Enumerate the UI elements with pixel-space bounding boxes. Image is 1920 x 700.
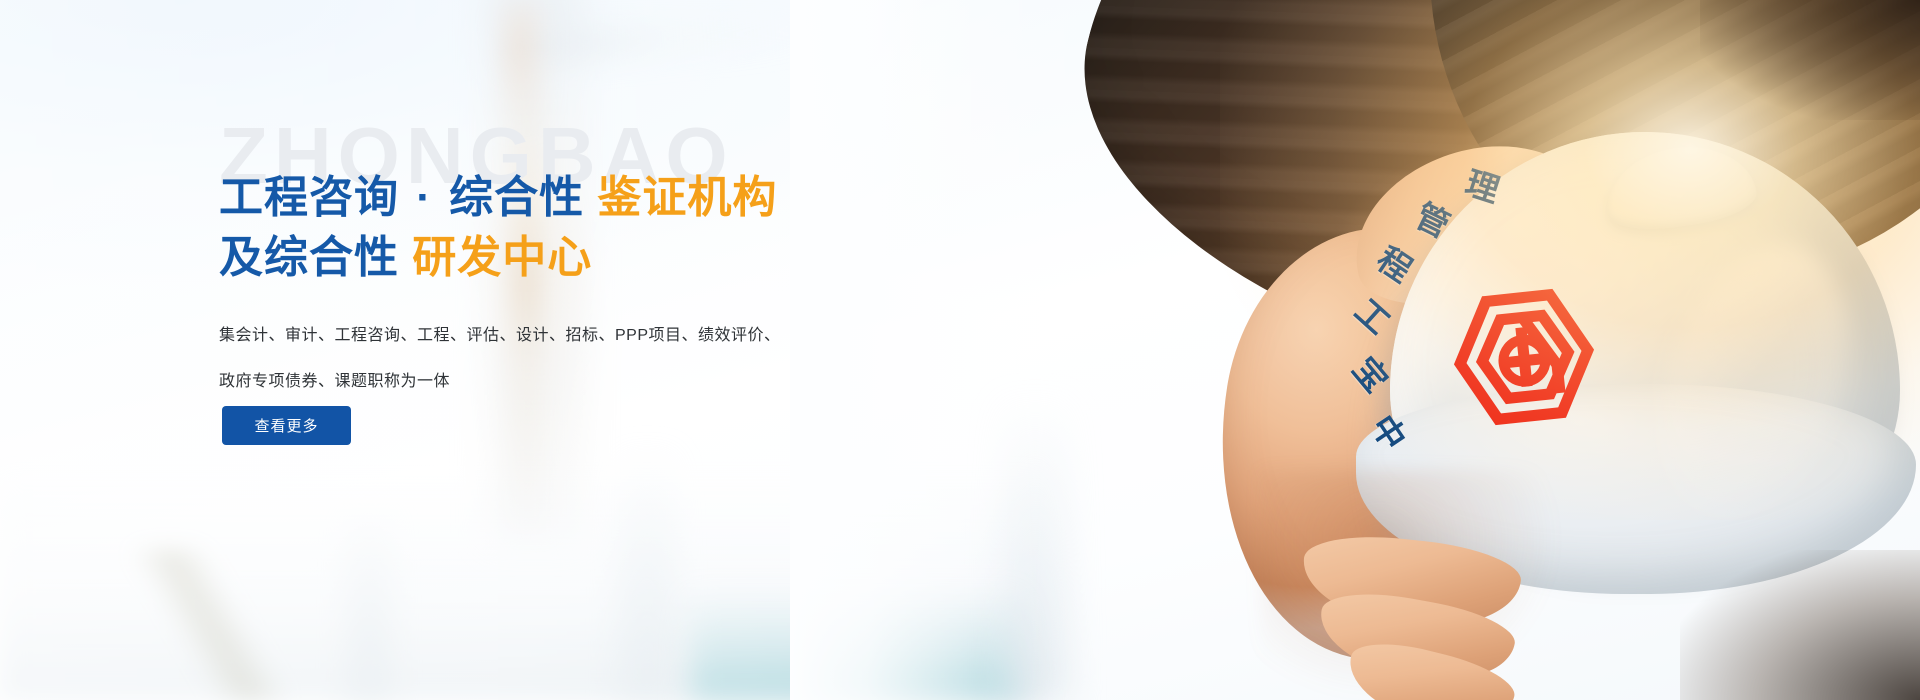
hero-content: ZHONGBAO 工程咨询 · 综合性 鉴证机构 及综合性 研发中心 集会计、审… bbox=[219, 0, 899, 700]
headline-separator-dot: · bbox=[412, 173, 436, 222]
hero-description: 集会计、审计、工程咨询、工程、评估、设计、招标、PPP项目、绩效评价、 政府专项… bbox=[219, 313, 819, 405]
headline-line2-primary: 及综合性 bbox=[219, 233, 399, 282]
photo-corner-shadow-bottom bbox=[1680, 550, 1920, 700]
headline-line1-accent: 鉴证机构 bbox=[597, 173, 777, 222]
headline-line1-primary-b: 综合性 bbox=[449, 173, 584, 222]
headline-line1-primary: 工程咨询 bbox=[219, 173, 399, 222]
view-more-button[interactable]: 查看更多 bbox=[222, 406, 351, 445]
hero-description-line-1: 集会计、审计、工程咨询、工程、评估、设计、招标、PPP项目、绩效评价、 bbox=[219, 313, 819, 359]
worker-photo: 中 宝 工 程 管 理 bbox=[790, 0, 1920, 700]
zhongbao-hexagon-logo bbox=[1443, 283, 1604, 432]
photo-corner-shadow-top bbox=[1700, 0, 1920, 120]
hero-headline-line-2: 及综合性 研发中心 bbox=[219, 228, 777, 288]
hero-banner: 中 宝 工 程 管 理 ZHONGBAO 工程咨询 · 综合性 鉴证机构 bbox=[0, 0, 1920, 700]
hero-headline-line-1: 工程咨询 · 综合性 鉴证机构 bbox=[219, 168, 777, 228]
hero-description-line-2: 政府专项债券、课题职称为一体 bbox=[219, 359, 819, 405]
hero-headline: 工程咨询 · 综合性 鉴证机构 及综合性 研发中心 bbox=[219, 168, 777, 288]
headline-line2-accent: 研发中心 bbox=[412, 233, 592, 282]
